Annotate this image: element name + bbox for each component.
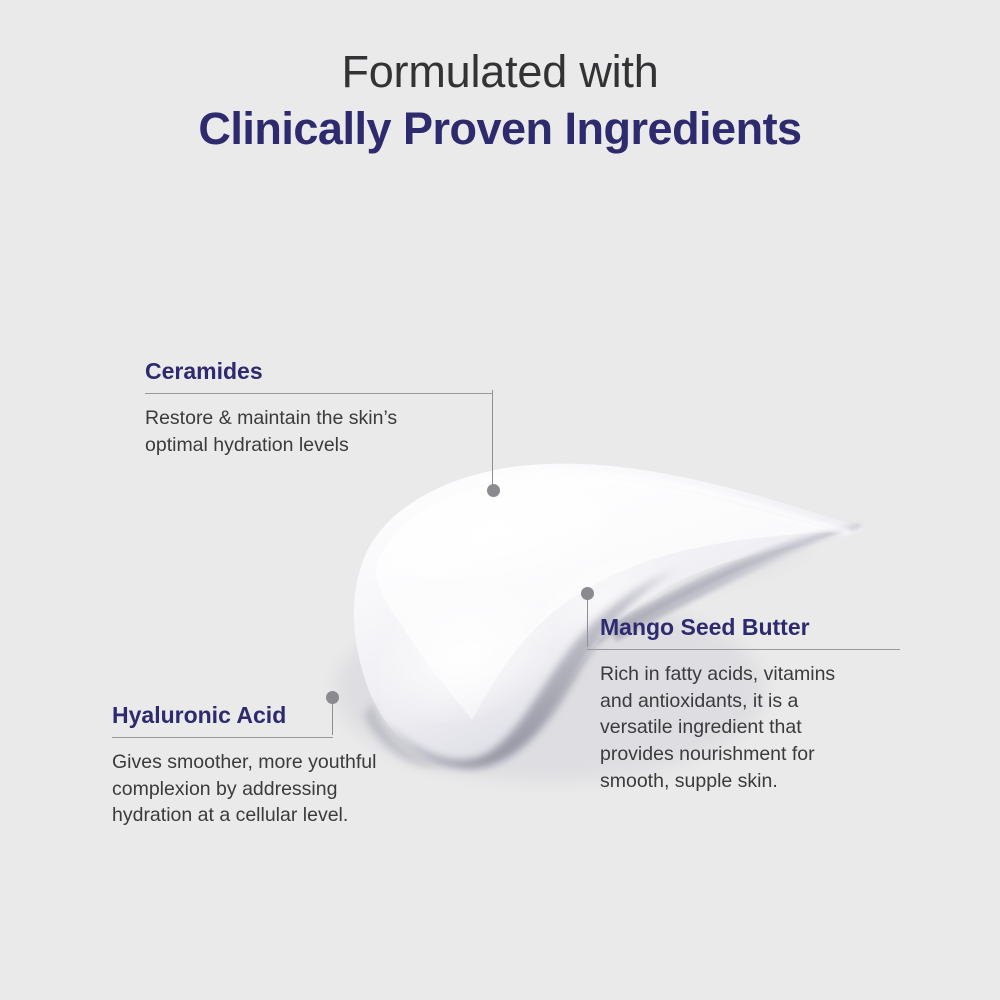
callout-body-line: versatile ingredient that bbox=[600, 714, 896, 741]
callout-title-hyaluronic-acid: Hyaluronic Acid bbox=[112, 702, 337, 730]
callout-body-line: Rich in fatty acids, vitamins bbox=[600, 661, 896, 688]
leader-dot-ceramides bbox=[487, 484, 500, 497]
callout-title-mango-seed-butter: Mango Seed Butter bbox=[600, 614, 900, 642]
page-heading: Formulated with Clinically Proven Ingred… bbox=[0, 46, 1000, 155]
callout-ceramides: Ceramides Restore & maintain the skin’s … bbox=[145, 358, 495, 458]
callout-body-line: Restore & maintain the skin’s bbox=[145, 405, 495, 432]
callout-body-mango-seed-butter: Rich in fatty acids, vitamins and antiox… bbox=[600, 661, 896, 796]
callout-body-hyaluronic-acid: Gives smoother, more youthful complexion… bbox=[112, 749, 452, 830]
callout-body-line: hydration at a cellular level. bbox=[112, 802, 452, 829]
callout-body-line: and antioxidants, it is a bbox=[600, 688, 896, 715]
heading-line-2: Clinically Proven Ingredients bbox=[0, 103, 1000, 155]
callout-body-line: optimal hydration levels bbox=[145, 432, 495, 459]
callout-title-ceramides: Ceramides bbox=[145, 358, 495, 386]
callout-body-line: Gives smoother, more youthful bbox=[112, 749, 452, 776]
callout-body-line: complexion by addressing bbox=[112, 776, 452, 803]
callout-rule-mango-seed-butter bbox=[587, 649, 900, 650]
callout-hyaluronic-acid: Hyaluronic Acid Gives smoother, more you… bbox=[112, 702, 337, 829]
heading-line-1: Formulated with bbox=[0, 46, 1000, 98]
infographic-canvas: Formulated with Clinically Proven Ingred… bbox=[0, 0, 1000, 1000]
leader-line-mango bbox=[587, 596, 588, 647]
callout-rule-ceramides bbox=[145, 393, 493, 394]
callout-rule-hyaluronic-acid bbox=[112, 737, 333, 738]
leader-dot-mango bbox=[581, 587, 594, 600]
callout-body-line: provides nourishment for bbox=[600, 741, 896, 768]
callout-body-ceramides: Restore & maintain the skin’s optimal hy… bbox=[145, 405, 495, 459]
callout-body-line: smooth, supple skin. bbox=[600, 768, 896, 795]
callout-mango-seed-butter: Mango Seed Butter Rich in fatty acids, v… bbox=[600, 614, 900, 795]
